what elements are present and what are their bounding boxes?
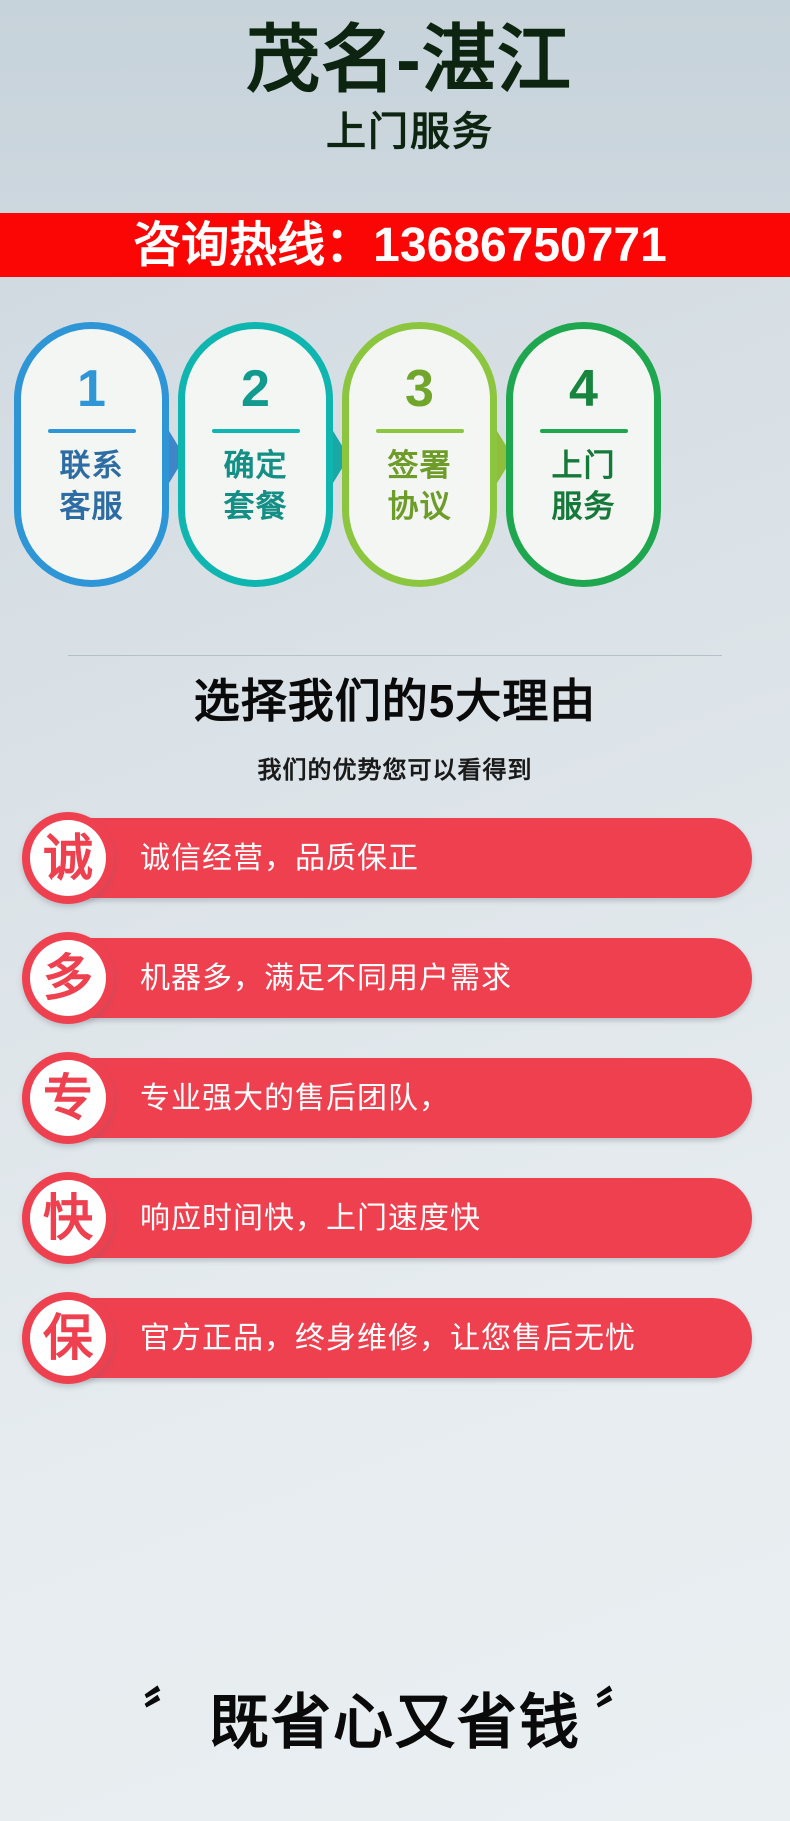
reasons-list: 诚 诚信经营，品质保正 多 机器多，满足不同用户需求 专 专业强大的售后团队， … <box>0 818 790 1418</box>
step-2-pill: 2 确定 套餐 <box>178 322 333 587</box>
step-2[interactable]: 2 确定 套餐 <box>178 322 333 587</box>
reason-text: 官方正品，终身维修，让您售后无忧 <box>140 1298 636 1378</box>
step-3[interactable]: 3 签署 协议 <box>342 322 497 587</box>
list-item[interactable]: 快 响应时间快，上门速度快 <box>22 1178 752 1258</box>
step-2-label-line1: 确定 <box>224 445 288 486</box>
step-1[interactable]: 1 联系 客服 <box>14 322 169 587</box>
list-item[interactable]: 多 机器多，满足不同用户需求 <box>22 938 752 1018</box>
step-3-label: 签署 协议 <box>388 445 452 527</box>
list-item[interactable]: 诚 诚信经营，品质保正 <box>22 818 752 898</box>
step-4-label-line1: 上门 <box>552 445 616 486</box>
slogan-close-quote: 〞 <box>581 1684 661 1740</box>
reason-badge-char: 快 <box>30 1180 106 1256</box>
reason-badge-char: 保 <box>30 1300 106 1376</box>
reason-badge-char: 专 <box>30 1060 106 1136</box>
hotline-banner[interactable]: 咨询热线：13686750771 <box>0 213 790 277</box>
step-2-number: 2 <box>241 361 270 417</box>
reason-badge-char: 多 <box>30 940 106 1016</box>
step-1-label: 联系 客服 <box>60 445 124 527</box>
reason-text: 响应时间快，上门速度快 <box>140 1178 481 1258</box>
step-2-label: 确定 套餐 <box>224 445 288 527</box>
step-1-label-line1: 联系 <box>60 445 124 486</box>
reason-badge: 保 <box>22 1292 114 1384</box>
step-1-pill: 1 联系 客服 <box>14 322 169 587</box>
list-item[interactable]: 保 官方正品，终身维修，让您售后无忧 <box>22 1298 752 1378</box>
step-3-rule <box>376 429 464 433</box>
list-item[interactable]: 专 专业强大的售后团队， <box>22 1058 752 1138</box>
page-subtitle: 上门服务 <box>0 108 790 156</box>
section-divider <box>68 655 722 656</box>
hotline-text: 咨询热线：13686750771 <box>0 213 790 277</box>
step-1-label-line2: 客服 <box>60 486 124 527</box>
reason-text: 机器多，满足不同用户需求 <box>140 938 512 1018</box>
reason-badge-char: 诚 <box>30 820 106 896</box>
page-title: 茂名-湛江 <box>0 18 790 102</box>
header-banner: 茂名-湛江 上门服务 <box>0 0 790 213</box>
reasons-subtitle: 我们的优势您可以看得到 <box>0 755 790 787</box>
step-2-label-line2: 套餐 <box>224 486 288 527</box>
step-3-number: 3 <box>405 361 434 417</box>
slogan-text: 既省心又省钱 <box>209 1689 581 1756</box>
bottom-slogan: 〞既省心又省钱〞 <box>0 1672 790 1763</box>
step-1-rule <box>48 429 136 433</box>
step-3-label-line1: 签署 <box>388 445 452 486</box>
reason-badge: 诚 <box>22 812 114 904</box>
step-3-pill: 3 签署 协议 <box>342 322 497 587</box>
reason-text: 诚信经营，品质保正 <box>140 818 419 898</box>
step-4-number: 4 <box>569 361 598 417</box>
process-steps: 1 联系 客服 2 确定 套餐 3 签署 协议 <box>0 322 790 592</box>
reason-badge: 多 <box>22 932 114 1024</box>
reason-badge: 专 <box>22 1052 114 1144</box>
step-4-pill: 4 上门 服务 <box>506 322 661 587</box>
reasons-title: 选择我们的5大理由 <box>0 672 790 730</box>
slogan-open-quote: 〞 <box>129 1684 209 1740</box>
step-4[interactable]: 4 上门 服务 <box>506 322 661 587</box>
reason-badge: 快 <box>22 1172 114 1264</box>
step-4-rule <box>540 429 628 433</box>
step-3-label-line2: 协议 <box>388 486 452 527</box>
step-4-label: 上门 服务 <box>552 445 616 527</box>
step-4-label-line2: 服务 <box>552 486 616 527</box>
step-2-rule <box>212 429 300 433</box>
reason-text: 专业强大的售后团队， <box>140 1058 450 1138</box>
step-1-number: 1 <box>77 361 106 417</box>
